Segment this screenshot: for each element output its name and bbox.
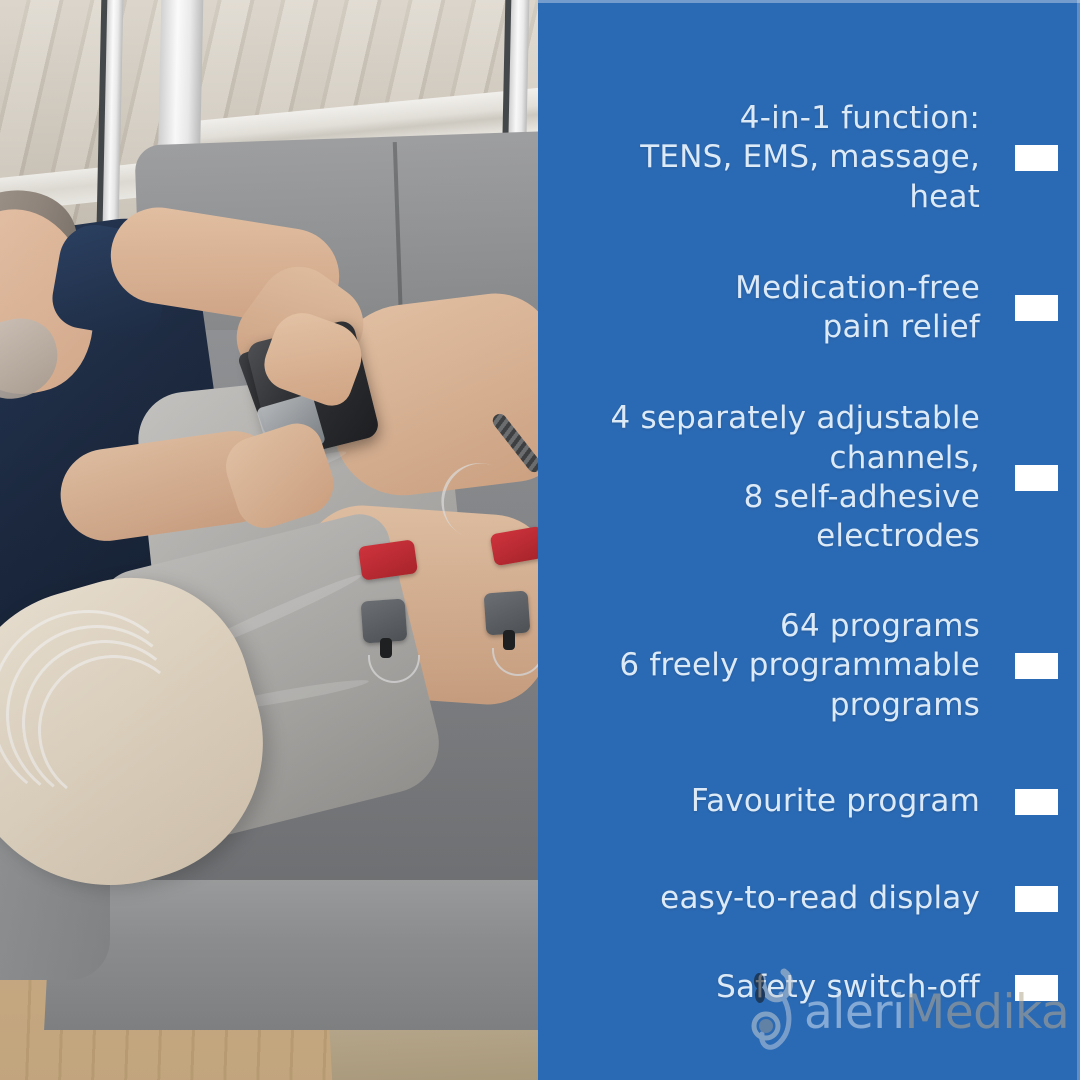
electrode-plug: [503, 630, 515, 650]
feature-text: easy-to-read display: [660, 879, 1058, 918]
electrode-pad-grey: [361, 599, 408, 644]
feature-text: 4-in-1 function: TENS, EMS, massage, hea…: [640, 99, 1058, 217]
feature-marker-swatch: [1015, 465, 1058, 491]
feature-text: Favourite program: [691, 782, 1058, 821]
watermark-brand-second: Medika: [905, 985, 1070, 1040]
feature-item-adjustable-channels-electrodes: 4 separately adjustable channels, 8 self…: [538, 374, 1080, 582]
brand-watermark: aleriMedika: [748, 962, 1068, 1062]
feature-item-favourite-program: Favourite program: [538, 750, 1080, 854]
sofa-base: [44, 880, 538, 1030]
feature-text: Medication-free pain relief: [735, 269, 1058, 348]
feature-list: 4-in-1 function: TENS, EMS, massage, hea…: [538, 0, 1080, 1080]
promo-graphic-root: 4-in-1 function: TENS, EMS, massage, hea…: [0, 0, 1080, 1080]
feature-item-easy-to-read-display: easy-to-read display: [538, 854, 1080, 944]
feature-text: 4 separately adjustable channels, 8 self…: [611, 399, 1058, 556]
feature-marker-swatch: [1015, 295, 1058, 321]
feature-marker-swatch: [1015, 653, 1058, 679]
watermark-brand-text: aleriMedika: [804, 985, 1069, 1040]
feature-marker-swatch: [1015, 789, 1058, 815]
watermark-brand-first: aleri: [804, 985, 905, 1040]
feature-item-four-in-one-function: 4-in-1 function: TENS, EMS, massage, hea…: [538, 74, 1080, 242]
stethoscope-icon: [748, 964, 810, 1060]
feature-text: 64 programs 6 freely programmable progra…: [619, 607, 1058, 725]
electrode-pad-grey: [484, 591, 531, 636]
feature-item-medication-free-pain-relief: Medication-free pain relief: [538, 242, 1080, 374]
feature-marker-swatch: [1015, 886, 1058, 912]
feature-marker-swatch: [1015, 145, 1058, 171]
product-lifestyle-photo: [0, 0, 538, 1080]
feature-item-programs: 64 programs 6 freely programmable progra…: [538, 582, 1080, 750]
